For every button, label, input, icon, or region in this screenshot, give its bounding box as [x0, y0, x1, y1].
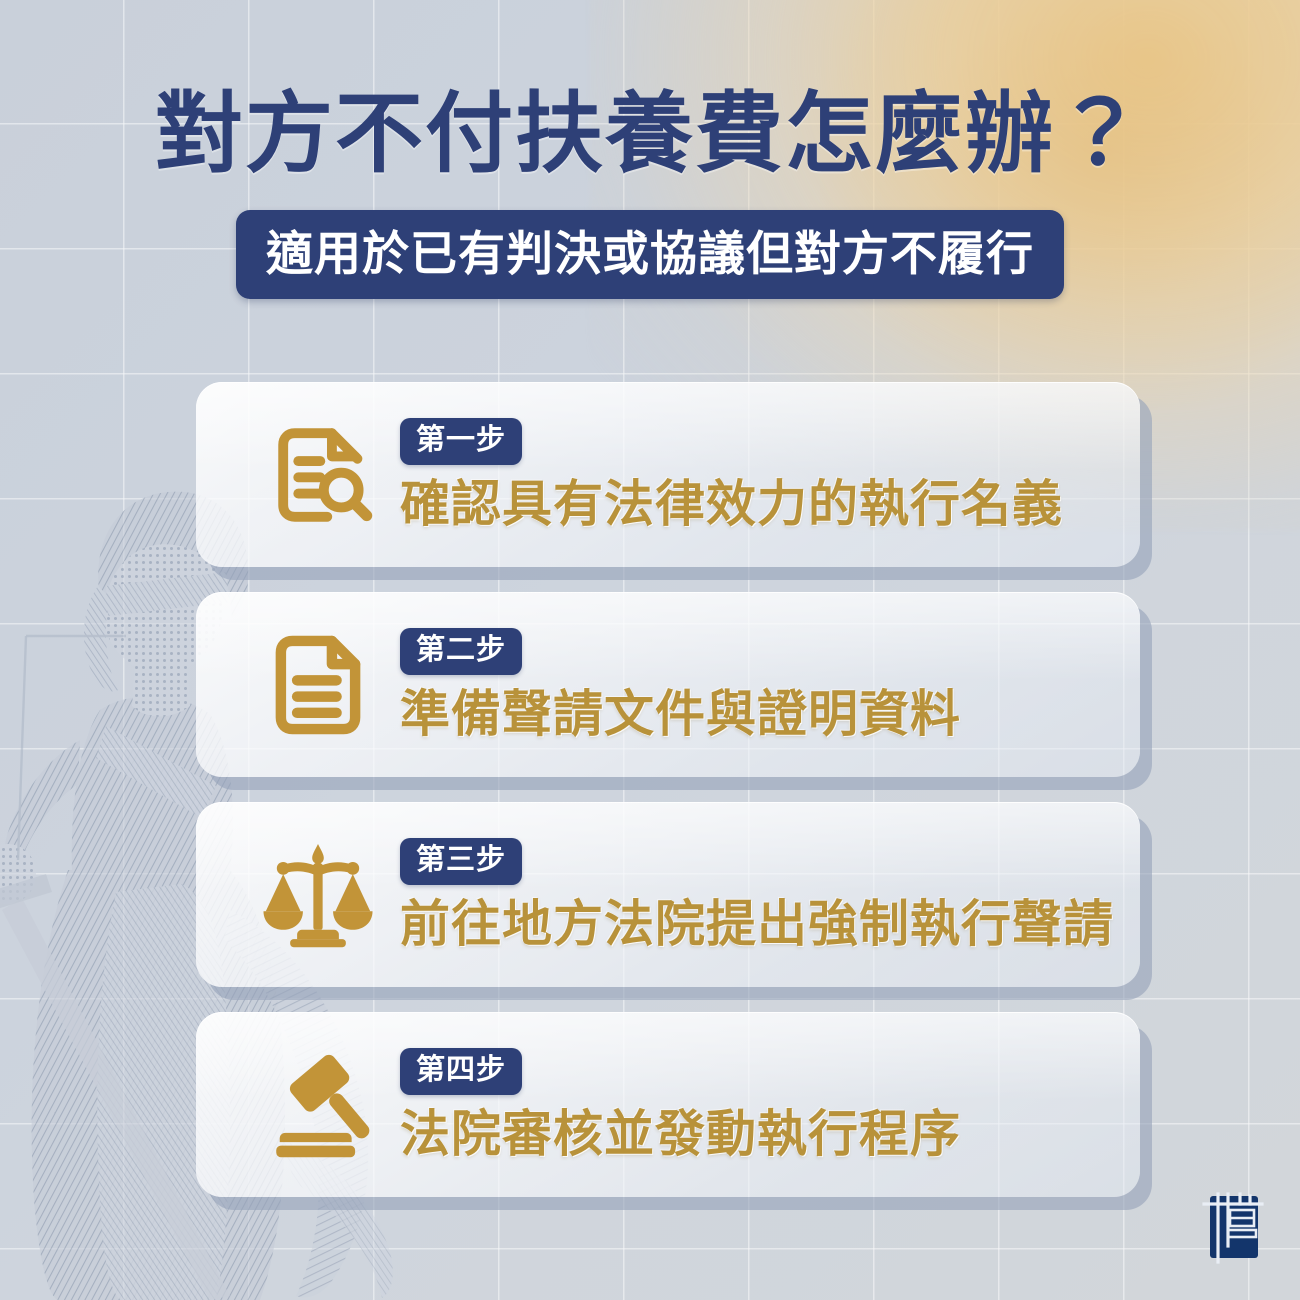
step-badge-4: 第四步: [400, 1048, 522, 1095]
step-content-4: 第四步 法院審核並發動執行程序: [384, 1048, 1106, 1162]
scales-of-justice-icon: [252, 829, 384, 961]
document-lines-icon: [252, 619, 384, 751]
step-card-2[interactable]: 第二步 準備聲請文件與證明資料: [196, 592, 1140, 777]
header: 對方不付扶養費怎麼辦？ 適用於已有判決或協議但對方不履行: [0, 88, 1300, 299]
step-content-2: 第二步 準備聲請文件與證明資料: [384, 628, 1106, 742]
step-badge-3: 第三步: [400, 838, 522, 885]
steps-list: 第一步 確認具有法律效力的執行名義 第二步 準備聲請文: [196, 382, 1140, 1222]
step-text-1: 確認具有法律效力的執行名義: [400, 476, 1106, 532]
infographic-poster: 對方不付扶養費怎麼辦？ 適用於已有判決或協議但對方不履行: [0, 0, 1300, 1300]
step-text-3: 前往地方法院提出強制執行聲請: [400, 896, 1114, 952]
step-text-4: 法院審核並發動執行程序: [400, 1106, 1106, 1162]
document-search-icon: [252, 409, 384, 541]
gavel-icon: [252, 1039, 384, 1171]
subtitle-container: 適用於已有判決或協議但對方不履行: [0, 210, 1300, 299]
step-card-1[interactable]: 第一步 確認具有法律效力的執行名義: [196, 382, 1140, 567]
step-content-1: 第一步 確認具有法律效力的執行名義: [384, 418, 1106, 532]
subtitle-badge: 適用於已有判決或協議但對方不履行: [236, 210, 1064, 299]
brand-logo-icon: [1202, 1192, 1264, 1264]
step-content-3: 第三步 前往地方法院提出強制執行聲請: [384, 838, 1114, 952]
step-badge-1: 第一步: [400, 418, 522, 465]
step-card-3[interactable]: 第三步 前往地方法院提出強制執行聲請: [196, 802, 1140, 987]
step-text-2: 準備聲請文件與證明資料: [400, 686, 1106, 742]
step-badge-2: 第二步: [400, 628, 522, 675]
step-card-4[interactable]: 第四步 法院審核並發動執行程序: [196, 1012, 1140, 1197]
page-title: 對方不付扶養費怎麼辦？: [0, 88, 1300, 180]
